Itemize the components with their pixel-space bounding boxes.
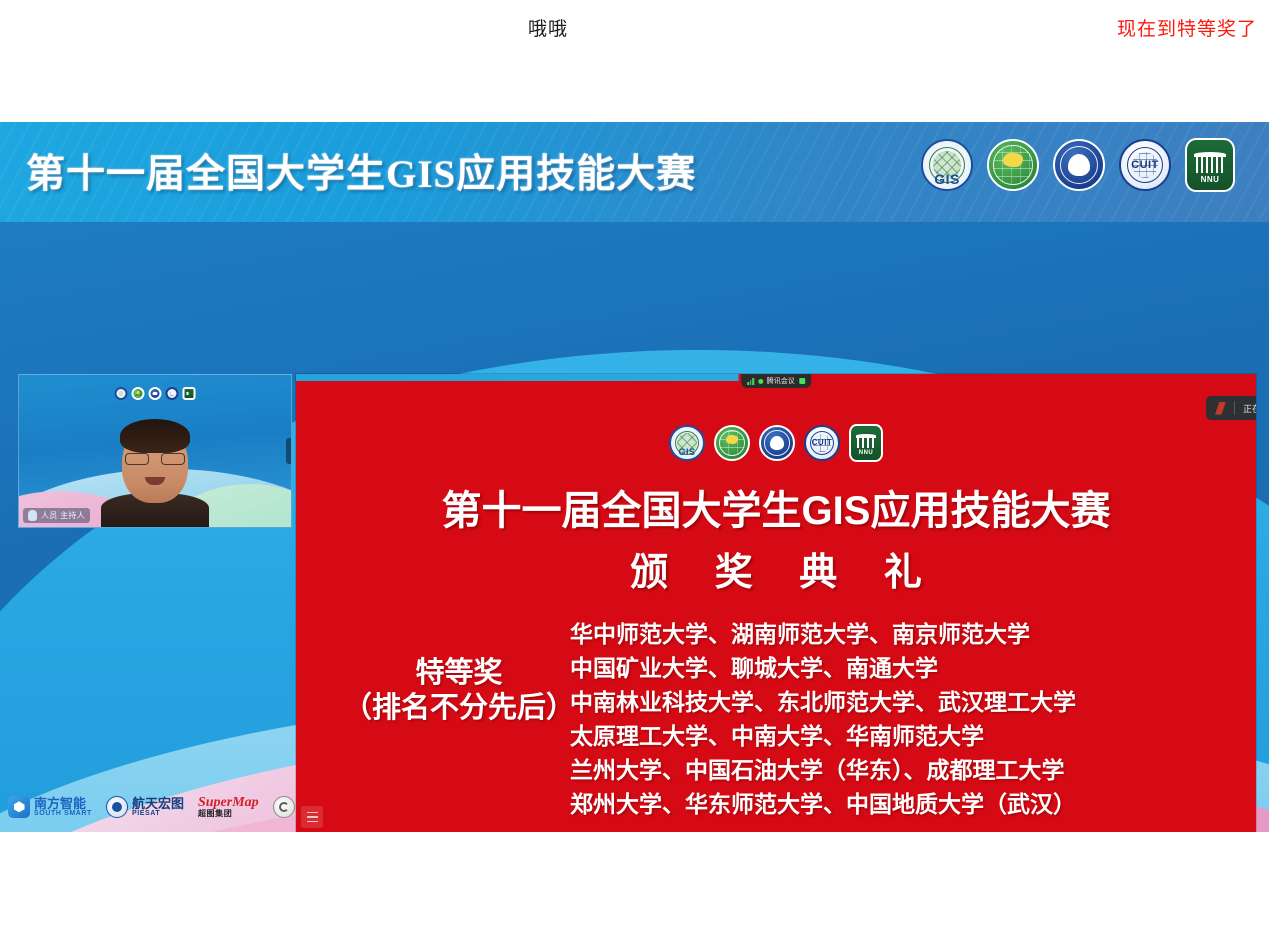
china-university-mining-logo xyxy=(1053,139,1105,191)
participant-video-tile[interactable]: 人员 主持人 xyxy=(18,374,292,528)
gis-association-logo: GIS xyxy=(669,425,705,461)
sponsor-supermap: SuperMap 超图集团 xyxy=(198,796,259,818)
nnu-logo: NNU xyxy=(849,424,883,462)
nnu-logo xyxy=(183,387,196,400)
gis-logo-label: GIS xyxy=(934,172,960,186)
annotation-toolbar-label: 正在 xyxy=(1243,402,1256,415)
sponsor-name-cn: 航天宏图 xyxy=(132,797,184,810)
piesat-logo xyxy=(106,796,128,818)
green-globe-logo xyxy=(714,425,750,461)
slide-subtitle-text: 颁 奖 典 礼 xyxy=(296,541,1256,596)
green-globe-ring xyxy=(993,145,1032,184)
annotate-pen-icon[interactable] xyxy=(1215,402,1226,415)
status-dot-icon xyxy=(758,379,763,384)
microphone-icon xyxy=(28,510,37,521)
geoglobe-logo xyxy=(273,796,295,818)
winner-line: 兰州大学、中国石油大学（华东）、成都理工大学 xyxy=(570,753,1238,787)
cumt-ring xyxy=(1060,146,1098,184)
participant-nametag: 人员 主持人 xyxy=(23,508,90,523)
participant-avatar xyxy=(99,419,211,527)
winner-line: 中国矿业大学、聊城大学、南通大学 xyxy=(570,651,1238,685)
screenshot-root: 哦哦 现在到特等奖了 第十一届全国大学生GIS应用技能大赛 GIS xyxy=(0,0,1269,952)
sponsor-piesat: 航天宏图 PIESAT xyxy=(106,796,184,818)
meeting-app-label: 腾讯会议 xyxy=(767,376,795,386)
sponsor-name-en: SOUTH SMART xyxy=(34,810,92,817)
slide-title-text: 第十一届全国大学生GIS应用技能大赛 xyxy=(296,478,1256,536)
award-name-text: 特等奖 xyxy=(324,656,594,691)
sponsor-name-cn: 南方智能 xyxy=(34,797,92,810)
shared-screen[interactable]: 腾讯会议 正在 GIS xyxy=(296,374,1256,832)
hamburger-menu-icon[interactable] xyxy=(301,806,323,828)
winner-list: 华中师范大学、湖南师范大学、南京师范大学 中国矿业大学、聊城大学、南通大学 中南… xyxy=(570,617,1238,821)
banner-title-text: 第十一届全国大学生GIS应用技能大赛 xyxy=(26,143,696,199)
sponsor-name-cn: SuperMap xyxy=(198,796,259,810)
green-globe-logo xyxy=(132,387,145,400)
video-bg-logo-group xyxy=(115,387,196,400)
event-banner: 第十一届全国大学生GIS应用技能大赛 GIS xyxy=(0,122,1269,222)
gis-logo-label: GIS xyxy=(678,448,695,457)
cuit-logo-label: CUIT xyxy=(812,439,833,447)
video-tile-side-handle[interactable] xyxy=(286,438,291,464)
annotation-toolbar[interactable]: 正在 xyxy=(1206,396,1256,420)
gis-association-logo: GIS xyxy=(921,139,973,191)
cuit-logo xyxy=(166,387,179,400)
sponsor-south-smart: 南方智能 SOUTH SMART xyxy=(8,796,92,818)
award-category-label: 特等奖 （排名不分先后） xyxy=(324,656,594,727)
speaker-icon xyxy=(799,378,805,384)
south-smart-logo xyxy=(8,796,30,818)
nnu-building-shape xyxy=(1196,156,1224,173)
china-university-mining-logo xyxy=(759,425,795,461)
nnu-logo: NNU xyxy=(1185,138,1235,192)
green-globe-logo xyxy=(987,139,1039,191)
bottom-whitespace xyxy=(0,832,1269,952)
nnu-logo-label: NNU xyxy=(859,450,874,456)
cuit-logo: CUIT xyxy=(1119,139,1171,191)
meeting-stage: 第十一届全国大学生GIS应用技能大赛 GIS xyxy=(0,122,1269,832)
annotation-strip: 哦哦 现在到特等奖了 xyxy=(0,0,1269,122)
award-note-text: （排名不分先后） xyxy=(324,691,594,726)
gis-association-logo xyxy=(115,387,128,400)
cuit-logo: CUIT xyxy=(804,425,840,461)
toolbar-divider xyxy=(1234,401,1235,415)
slide-logo-group: GIS CUIT NNU xyxy=(669,424,883,462)
meeting-status-pill[interactable]: 腾讯会议 xyxy=(741,374,811,388)
right-caption-text: 现在到特等奖了 xyxy=(1117,14,1257,41)
winner-line: 华中师范大学、湖南师范大学、南京师范大学 xyxy=(570,617,1238,651)
nnu-logo-label: NNU xyxy=(1201,176,1220,184)
winner-line: 太原理工大学、中南大学、华南师范大学 xyxy=(570,719,1238,753)
sponsor-name-en: 超图集团 xyxy=(198,810,259,818)
sponsor-name-en: PIESAT xyxy=(132,810,184,817)
participant-name-label: 人员 主持人 xyxy=(41,510,85,521)
winner-line: 中南林业科技大学、东北师范大学、武汉理工大学 xyxy=(570,685,1238,719)
participant-hair xyxy=(120,419,190,453)
sponsor-bar: 南方智能 SOUTH SMART 航天宏图 PIESAT SuperMap 超图… xyxy=(8,796,343,818)
winner-line: 郑州大学、华东师范大学、中国地质大学（武汉） xyxy=(570,787,1238,821)
participant-glasses xyxy=(125,453,185,465)
cuit-logo-label: CUIT xyxy=(1131,160,1159,171)
center-caption-text: 哦哦 xyxy=(528,14,568,41)
china-university-mining-logo xyxy=(149,387,162,400)
signal-bars-icon xyxy=(747,378,754,385)
banner-logo-group: GIS CUIT xyxy=(921,138,1235,192)
